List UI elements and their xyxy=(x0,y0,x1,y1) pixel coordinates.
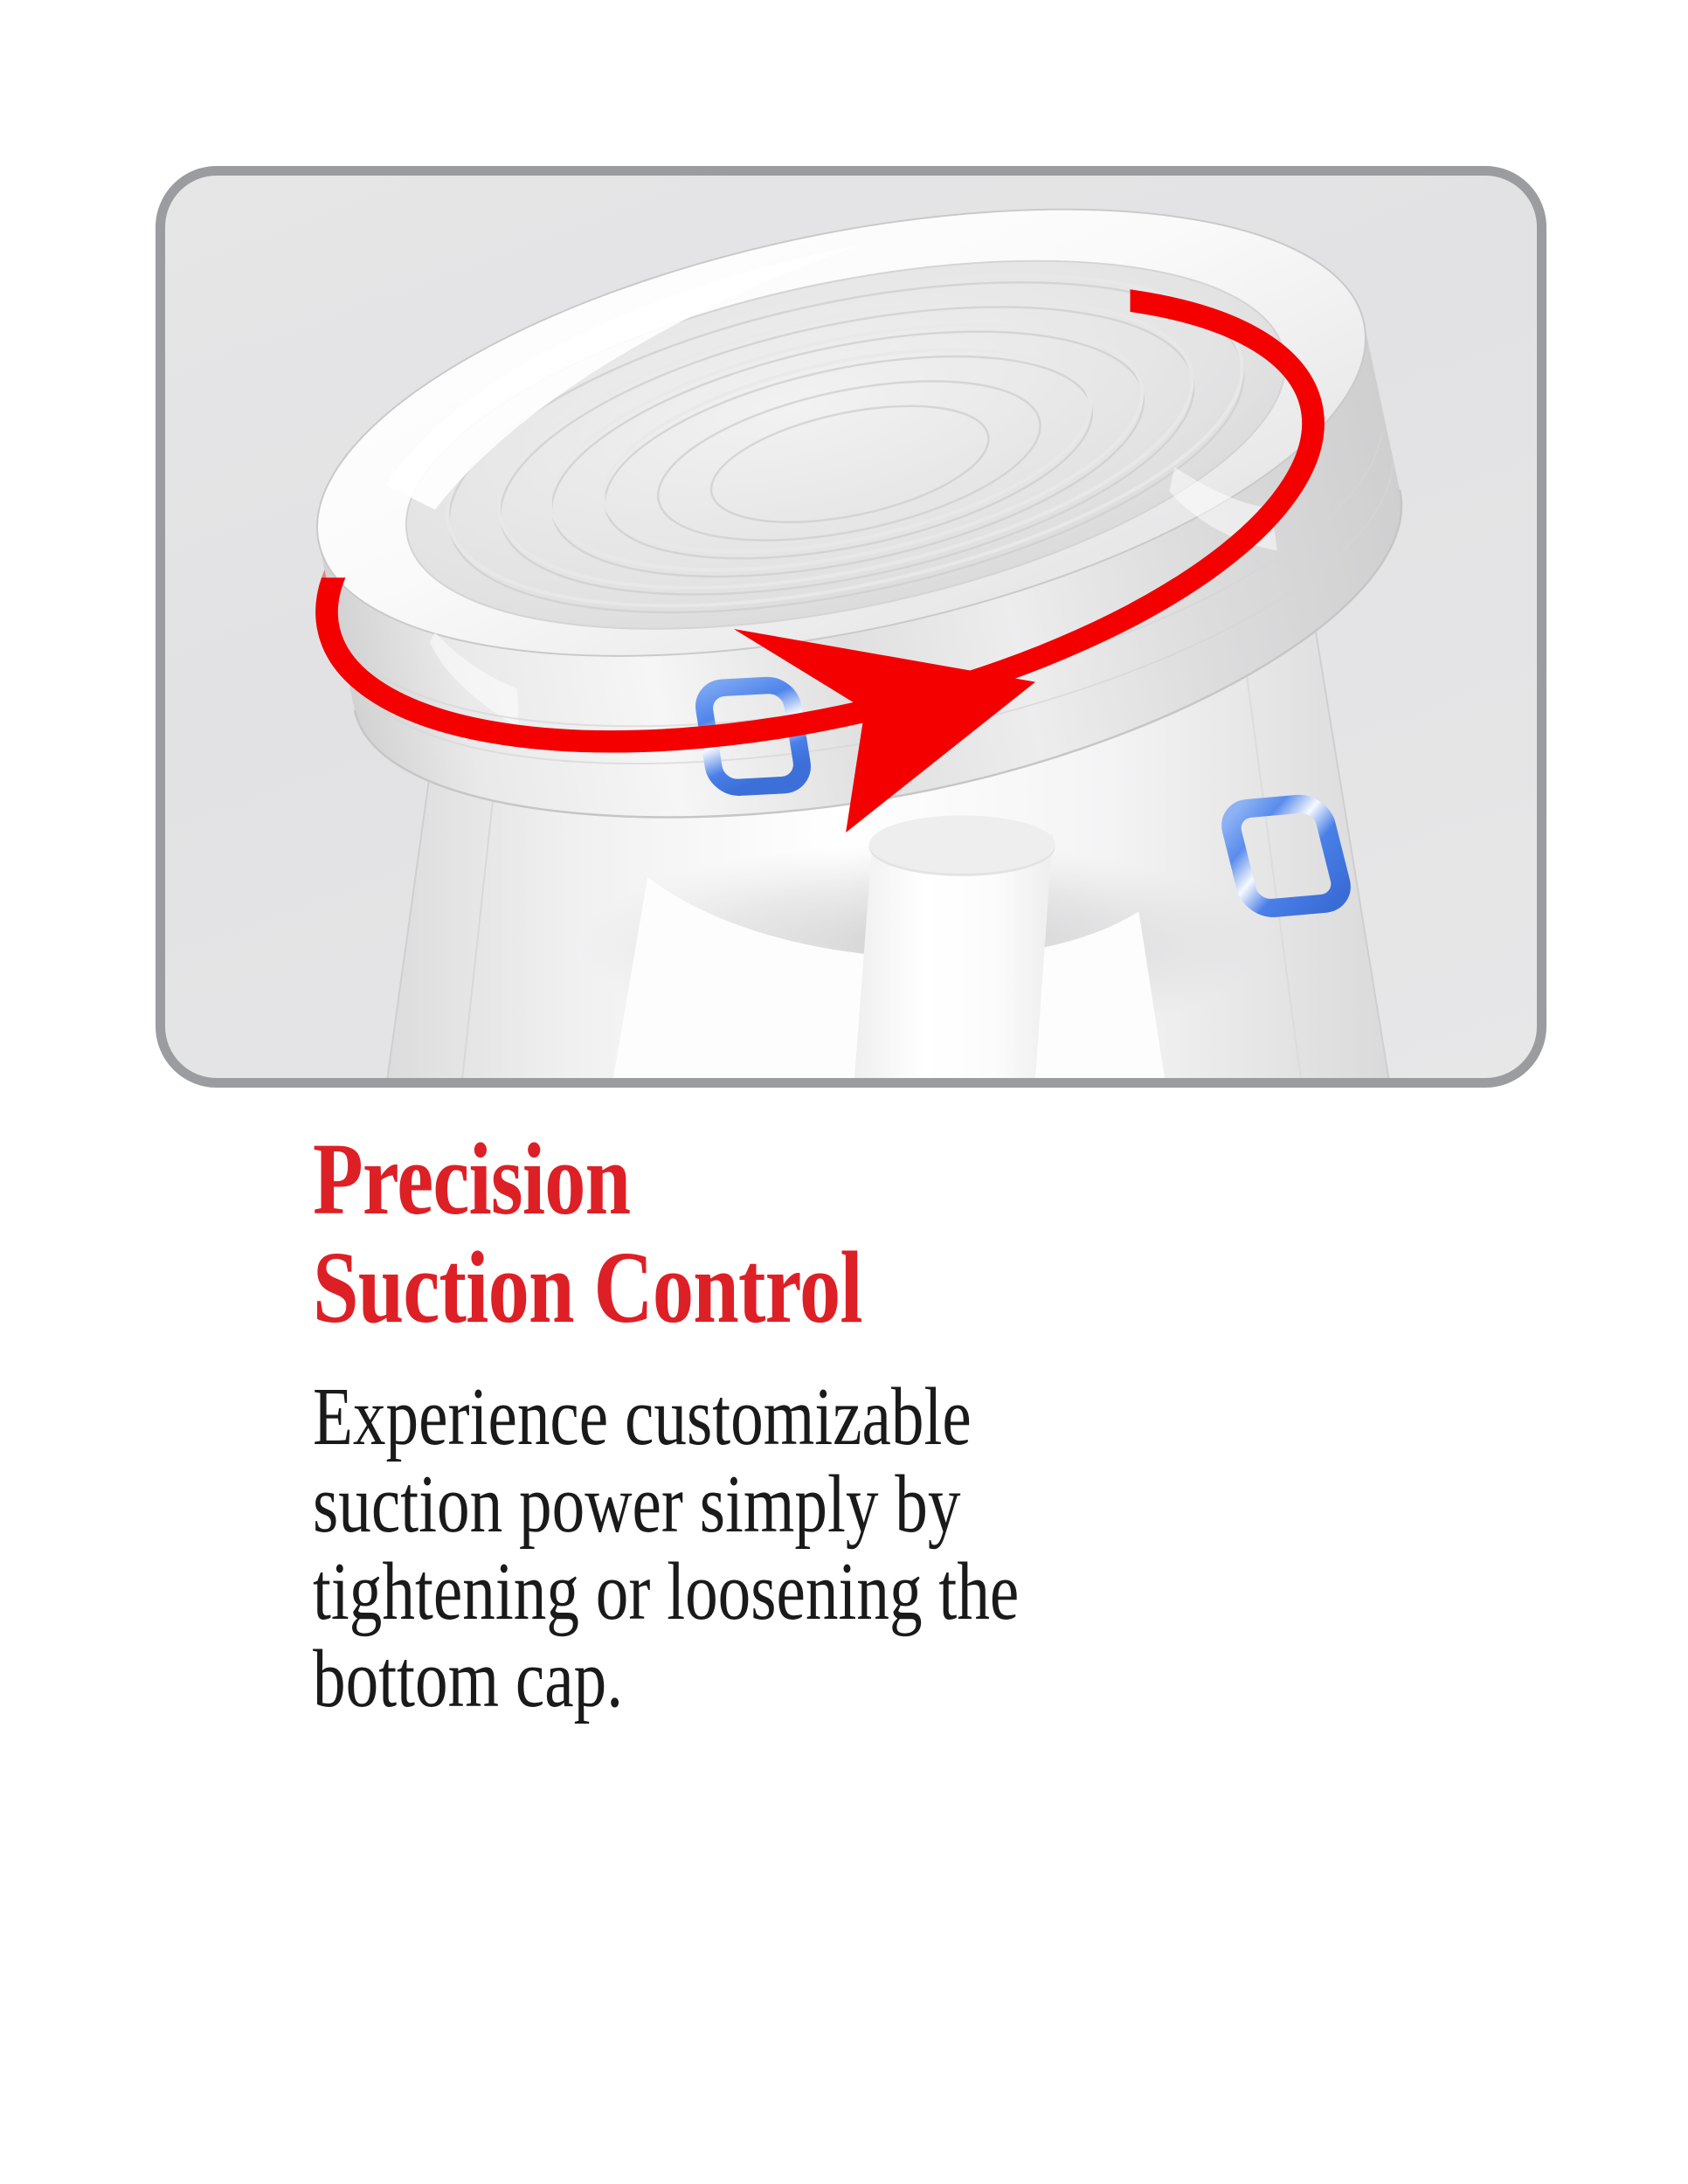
page-title: Precision Suction Control xyxy=(313,1125,1466,1342)
copy-block: Precision Suction Control Experience cus… xyxy=(313,1125,1466,1723)
description-line-2: suction power simply by xyxy=(313,1461,1235,1548)
description-line-1: Experience customizable xyxy=(313,1373,1235,1461)
page-title-line-1: Precision xyxy=(313,1125,1235,1234)
description-line-3: tightening or loosening the xyxy=(313,1548,1235,1635)
bottom-cap-illustration xyxy=(165,176,1537,1078)
page-title-line-2: Suction Control xyxy=(313,1234,1235,1342)
product-illustration-panel xyxy=(156,166,1546,1088)
description-line-4: bottom cap. xyxy=(313,1635,1235,1723)
description-paragraph: Experience customizable suction power si… xyxy=(313,1373,1466,1723)
